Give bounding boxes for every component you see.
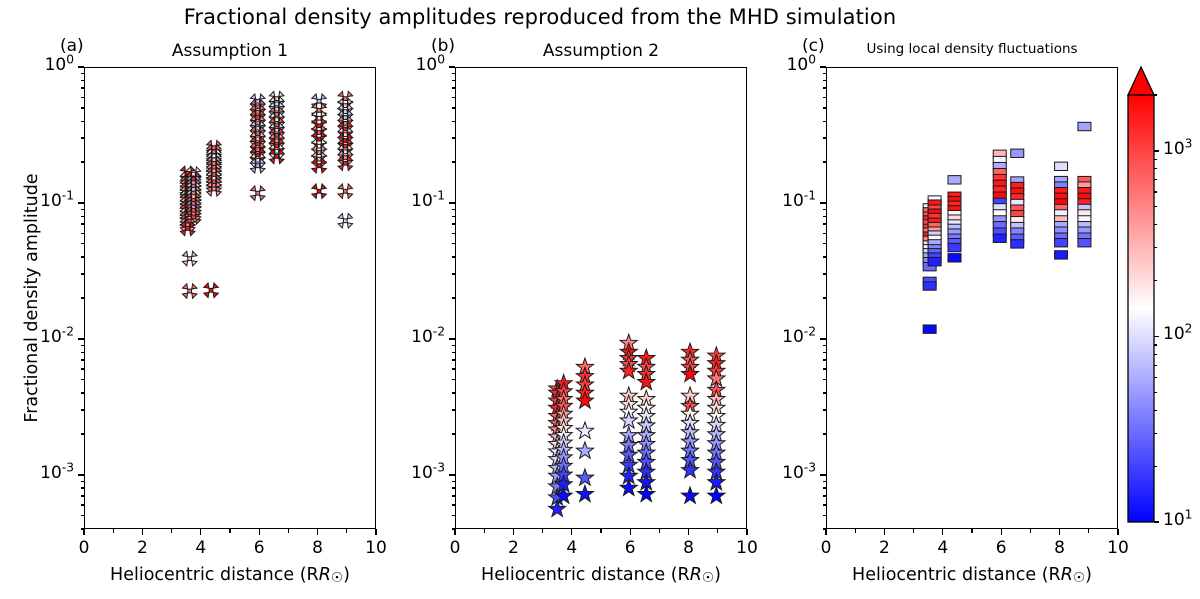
- colorbar-body[interactable]: [1128, 95, 1154, 522]
- colorbar-tick: [1154, 521, 1159, 522]
- colorbar-minor-tick: [1154, 392, 1157, 393]
- colorbar-minor-tick: [1154, 365, 1157, 366]
- colorbar-minor-tick: [1154, 179, 1157, 180]
- colorbar-minor-tick: [1154, 280, 1157, 281]
- colorbar-minor-tick: [1154, 247, 1157, 248]
- colorbar-minor-tick: [1154, 94, 1157, 95]
- colorbar-minor-tick: [1154, 377, 1157, 378]
- colorbar-minor-tick: [1154, 354, 1157, 355]
- colorbar-minor-tick: [1154, 433, 1157, 434]
- colorbar-tick: [1154, 336, 1159, 337]
- figure-canvas: Fractional density amplitudes reproduced…: [0, 0, 1200, 599]
- colorbar-minor-tick: [1154, 224, 1157, 225]
- colorbar-tick: [1154, 150, 1159, 151]
- colorbar-minor-tick: [1154, 344, 1157, 345]
- colorbar-tick-label: 101: [1163, 510, 1192, 530]
- colorbar-tick-label: 103: [1163, 139, 1192, 159]
- colorbar-extend-arrow-icon: [1128, 67, 1154, 95]
- colorbar-minor-tick: [1154, 410, 1157, 411]
- colorbar-minor-tick: [1154, 159, 1157, 160]
- colorbar-minor-tick: [1154, 466, 1157, 467]
- colorbar-gradient: [0, 0, 1200, 599]
- colorbar-minor-tick: [1154, 206, 1157, 207]
- colorbar-minor-tick: [1154, 191, 1157, 192]
- colorbar-minor-tick: [1154, 168, 1157, 169]
- colorbar: 103102101Period (s): [0, 0, 72, 599]
- colorbar-tick-label: 102: [1163, 324, 1192, 344]
